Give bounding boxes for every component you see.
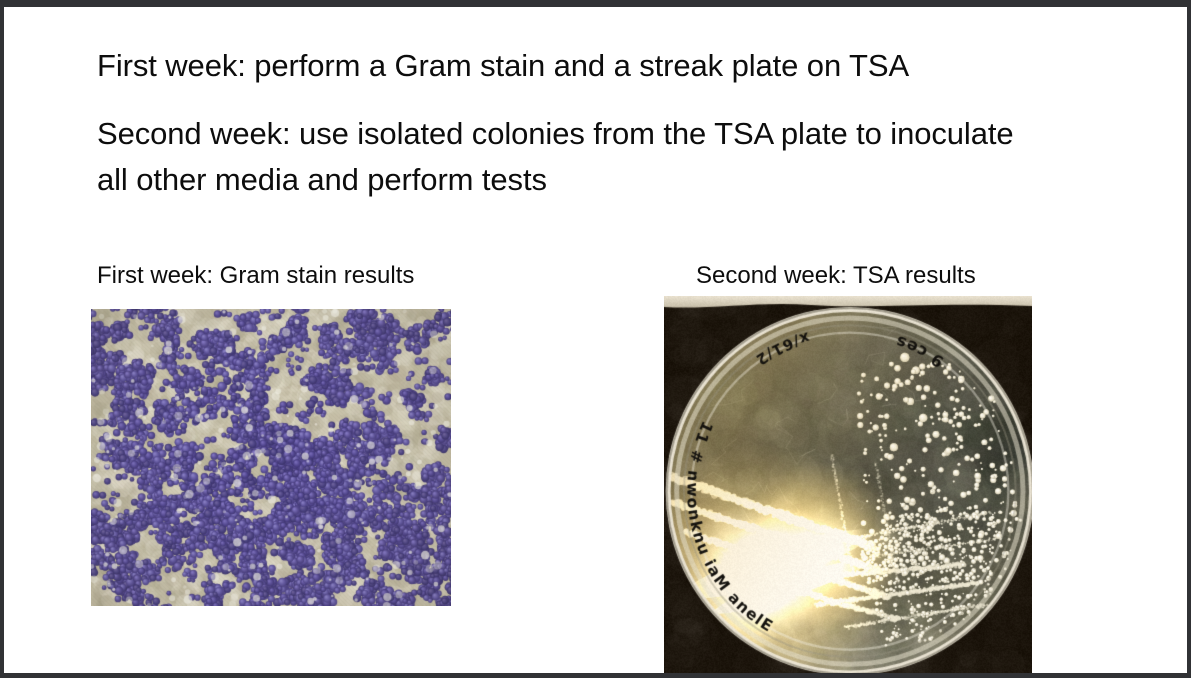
gram-stain-image <box>91 309 451 606</box>
gram-stain-canvas <box>91 309 451 606</box>
slide-canvas: First week: perform a Gram stain and a s… <box>4 7 1187 673</box>
tsa-plate-canvas <box>664 296 1032 673</box>
tsa-plate-image <box>664 296 1032 673</box>
caption-tsa-plate: Second week: TSA results <box>696 261 976 291</box>
caption-gram-stain: First week: Gram stain results <box>97 261 414 291</box>
instruction-paragraph-second-week: Second week: use isolated colonies from … <box>97 111 1027 203</box>
instruction-paragraph-first-week: First week: perform a Gram stain and a s… <box>97 43 1107 89</box>
slide-frame: First week: perform a Gram stain and a s… <box>0 0 1191 678</box>
